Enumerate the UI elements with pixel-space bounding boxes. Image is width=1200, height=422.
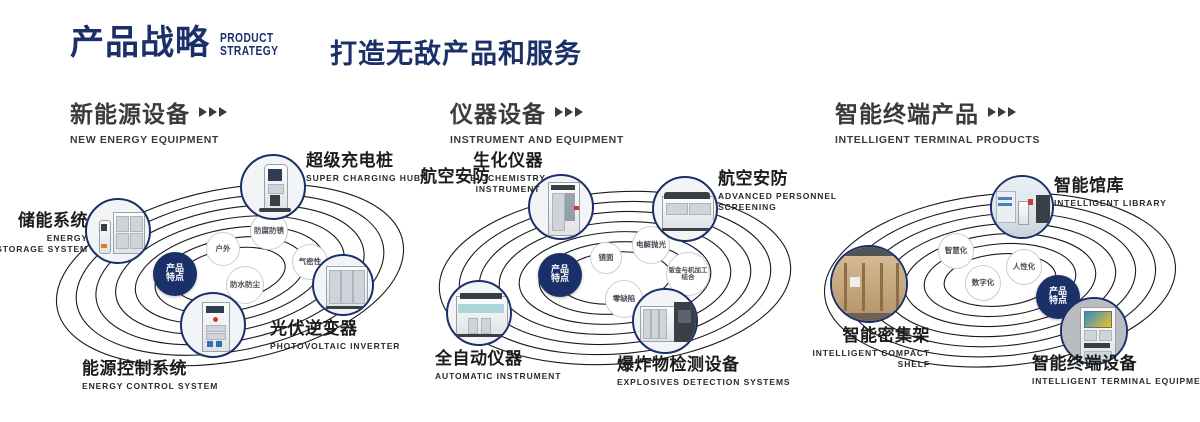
compact-shelf-photo xyxy=(832,247,906,321)
label-en: AUTOMATIC INSTRUMENT xyxy=(435,371,575,382)
feature-bubble-digital[interactable]: 数字化 xyxy=(965,265,1001,301)
node-bubble-charging-hub[interactable] xyxy=(240,154,306,220)
section-title-instrument: 仪器设备 INSTRUMENT AND EQUIPMENT xyxy=(450,95,624,146)
label-cn: 能源控制系统 xyxy=(82,360,242,379)
label-compact-shelf: 智能密集架 INTELLIGENT COMPACT SHELF xyxy=(800,327,930,369)
node-bubble-energy-control[interactable] xyxy=(180,292,246,358)
explosives-detector-photo xyxy=(634,290,696,352)
label-en: INTELLIGENT TERMINAL EQUIPMENT xyxy=(1032,376,1200,387)
label-cn: 智能终端设备 xyxy=(1032,355,1200,374)
core-line2: 特点 xyxy=(166,274,184,283)
section-title-intelligent-terminal: 智能终端产品 INTELLIGENT TERMINAL PRODUCTS xyxy=(835,95,1040,146)
label-energy-storage: 储能系统 ENERGY STORAGE SYSTEM xyxy=(0,212,88,254)
label-automatic-instrument: 全自动仪器 AUTOMATIC INSTRUMENT xyxy=(435,350,575,382)
label-cn: 储能系统 xyxy=(0,212,88,231)
label-cn: 爆炸物检测设备 xyxy=(617,356,797,375)
label-cn: 智能密集架 xyxy=(800,327,930,346)
chevron-right-icon xyxy=(199,107,227,117)
label-explosives-detection: 爆炸物检测设备 EXPLOSIVES DETECTION SYSTEMS xyxy=(617,356,797,388)
feature-bubble-outdoor[interactable]: 户外 xyxy=(206,232,240,266)
node-bubble-pv-inverter[interactable] xyxy=(312,254,374,316)
core-bubble-product-features[interactable]: 产品 特点 xyxy=(153,252,197,296)
label-en: ENERGY CONTROL SYSTEM xyxy=(82,381,242,392)
smart-library-photo xyxy=(992,177,1052,237)
node-bubble-personnel-screening[interactable] xyxy=(652,176,718,242)
section-title-cn: 仪器设备 xyxy=(450,95,546,129)
section-title-cn: 智能终端产品 xyxy=(835,95,979,129)
page-title-cn: 产品战略 xyxy=(70,26,210,60)
label-cn: 光伏逆变器 xyxy=(270,320,410,339)
node-bubble-smart-library[interactable] xyxy=(990,175,1054,239)
cluster-intelligent-terminal: 智慧化 数字化 人性化 产品 特点 xyxy=(810,155,1200,405)
chevron-right-icon xyxy=(988,107,1016,117)
charging-pile-photo xyxy=(242,156,304,218)
node-bubble-explosives-detection[interactable] xyxy=(632,288,698,354)
battery-cabinet-photo xyxy=(87,200,149,262)
page-subtitle: 打造无敌产品和服务 xyxy=(330,32,582,71)
pv-inverter-photo xyxy=(314,256,372,314)
section-title-en: INTELLIGENT TERMINAL PRODUCTS xyxy=(835,134,1040,146)
page-title-en-line2: STRATEGY xyxy=(220,45,278,58)
product-strategy-infographic: 产品战略 PRODUCT STRATEGY 打造无敌产品和服务 新能源设备 NE… xyxy=(0,0,1200,422)
label-en: EXPLOSIVES DETECTION SYSTEMS xyxy=(617,377,797,388)
node-bubble-energy-storage[interactable] xyxy=(85,198,151,264)
section-title-en: INSTRUMENT AND EQUIPMENT xyxy=(450,134,624,146)
section-title-cn: 新能源设备 xyxy=(70,95,190,129)
label-en: PHOTOVOLTAIC INVERTER xyxy=(270,341,410,352)
label-en: ENERGY STORAGE SYSTEM xyxy=(0,233,88,254)
feature-bubble-intelligent[interactable]: 智慧化 xyxy=(938,233,974,269)
personnel-screening-photo xyxy=(654,178,716,240)
cluster-new-energy: 产品 特点 户外 防腐防锈 防水防尘 气密性 xyxy=(40,150,420,400)
label-pv-inverter: 光伏逆变器 PHOTOVOLTAIC INVERTER xyxy=(270,320,410,352)
section-title-en: NEW ENERGY EQUIPMENT xyxy=(70,134,227,146)
node-bubble-automatic-instrument[interactable] xyxy=(446,280,512,346)
core-line2: 特点 xyxy=(551,275,569,284)
cluster-instrument: 产品 特点 镜面 电解抛光 钣金与机加工结合 零缺陷 xyxy=(420,150,810,400)
label-en: INTELLIGENT COMPACT SHELF xyxy=(800,348,930,369)
label-terminal-equipment: 智能终端设备 INTELLIGENT TERMINAL EQUIPMENT xyxy=(1032,355,1200,387)
label-cn: 全自动仪器 xyxy=(435,350,575,369)
label-smart-library: 智能馆库 INTELLIGENT LIBRARY xyxy=(1054,177,1200,209)
label-energy-control: 能源控制系统 ENERGY CONTROL SYSTEM xyxy=(82,360,242,392)
page-title: 产品战略 PRODUCT STRATEGY xyxy=(70,26,291,60)
chevron-right-icon xyxy=(555,107,583,117)
energy-control-cabinet-photo xyxy=(182,294,244,356)
label-cn: 智能馆库 xyxy=(1054,177,1200,196)
node-bubble-compact-shelf[interactable] xyxy=(830,245,908,323)
label-en: BIOCHEMISTRY INSTRUMENT xyxy=(448,173,568,194)
core-bubble-product-features[interactable]: 产品 特点 xyxy=(538,253,582,297)
label-biochemistry-instrument: 生化仪器 BIOCHEMISTRY INSTRUMENT xyxy=(448,152,568,194)
section-title-new-energy: 新能源设备 NEW ENERGY EQUIPMENT xyxy=(70,95,227,146)
page-title-en: PRODUCT STRATEGY xyxy=(220,32,278,58)
feature-bubble-humanized[interactable]: 人性化 xyxy=(1006,249,1042,285)
automatic-instrument-photo xyxy=(448,282,510,344)
label-cn: 生化仪器 xyxy=(448,152,568,171)
feature-bubble-mirror-finish[interactable]: 镜面 xyxy=(590,242,622,274)
label-en: INTELLIGENT LIBRARY xyxy=(1054,198,1200,209)
